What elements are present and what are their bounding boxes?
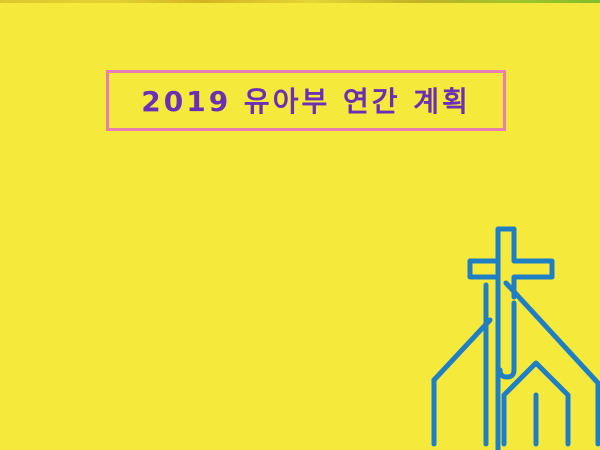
- roof-left-slope: [434, 320, 490, 380]
- steeple-post: [500, 303, 514, 377]
- page-title: 2019 유아부 연간 계획: [141, 88, 471, 116]
- church-with-cross-icon: [420, 215, 600, 450]
- title-box: 2019 유아부 연간 계획: [106, 70, 506, 131]
- top-edge-artifact: [0, 0, 600, 3]
- roof-right-slope: [506, 283, 598, 383]
- slide-canvas: 2019 유아부 연간 계획: [0, 0, 600, 450]
- cross-left-arm-icon: [470, 261, 498, 277]
- church-illustration: [420, 215, 600, 450]
